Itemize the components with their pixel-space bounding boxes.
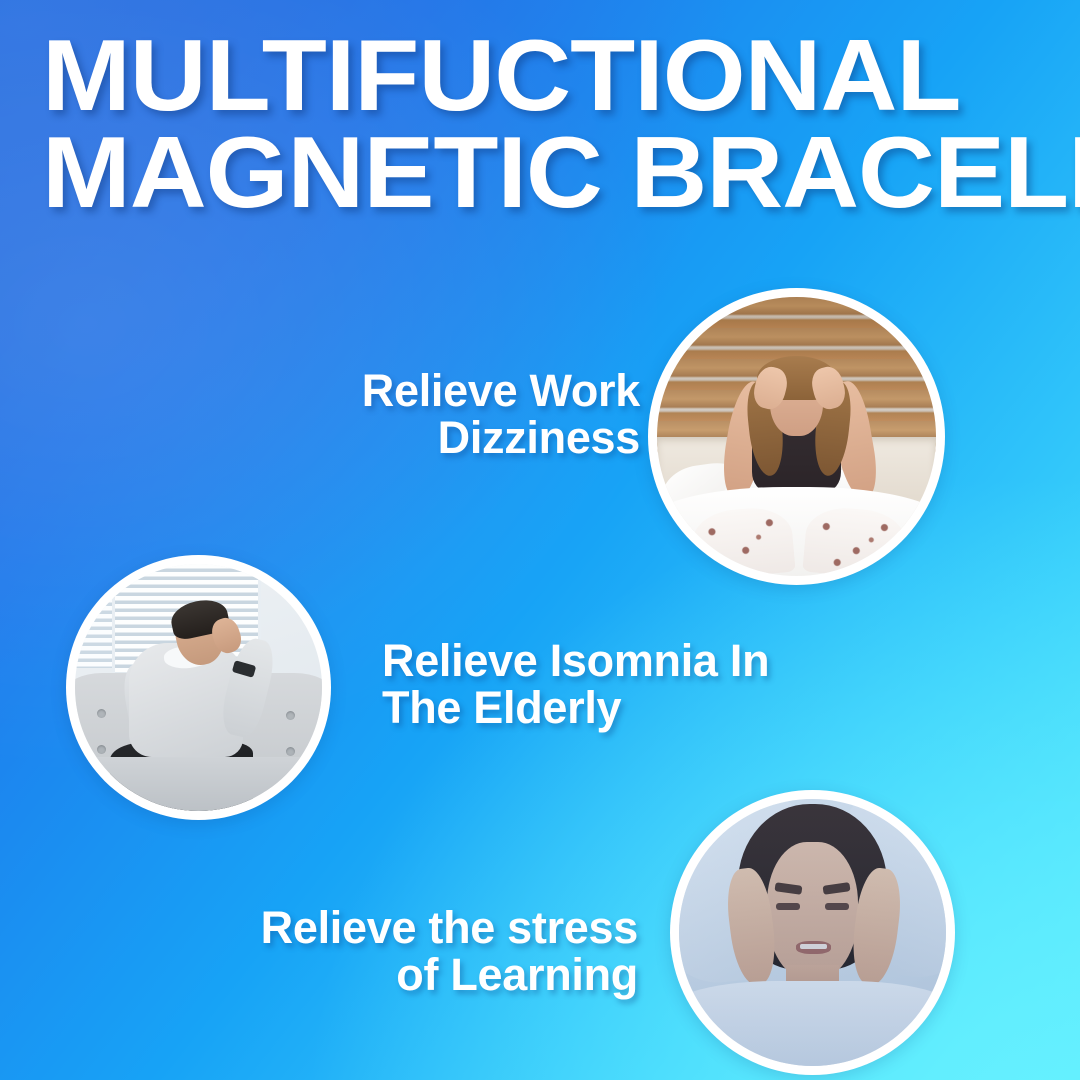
scene-woman-on-pillow	[679, 799, 946, 1066]
poster-title: MULTIFUCTIONAL MAGNETIC BRACELET	[42, 28, 1080, 222]
scene-woman-in-bed	[657, 297, 936, 576]
photo-elderly-insomnia-frame	[75, 564, 322, 811]
scene-elderly-man-sofa	[75, 564, 322, 811]
feature-label-1: Relieve Work Dizziness	[250, 368, 640, 462]
photo-learning-stress	[670, 790, 955, 1075]
poster-title-line-2: MAGNETIC BRACELET	[42, 125, 1080, 222]
photo-elderly-insomnia	[66, 555, 331, 820]
feature-label-2: Relieve Isomnia In The Elderly	[382, 638, 852, 732]
photo-learning-stress-frame	[679, 799, 946, 1066]
poster-title-line-1: MULTIFUCTIONAL	[42, 28, 1080, 125]
feature-label-3: Relieve the stress of Learning	[170, 905, 638, 999]
photo-work-dizziness	[648, 288, 945, 585]
photo-work-dizziness-frame	[657, 297, 936, 576]
